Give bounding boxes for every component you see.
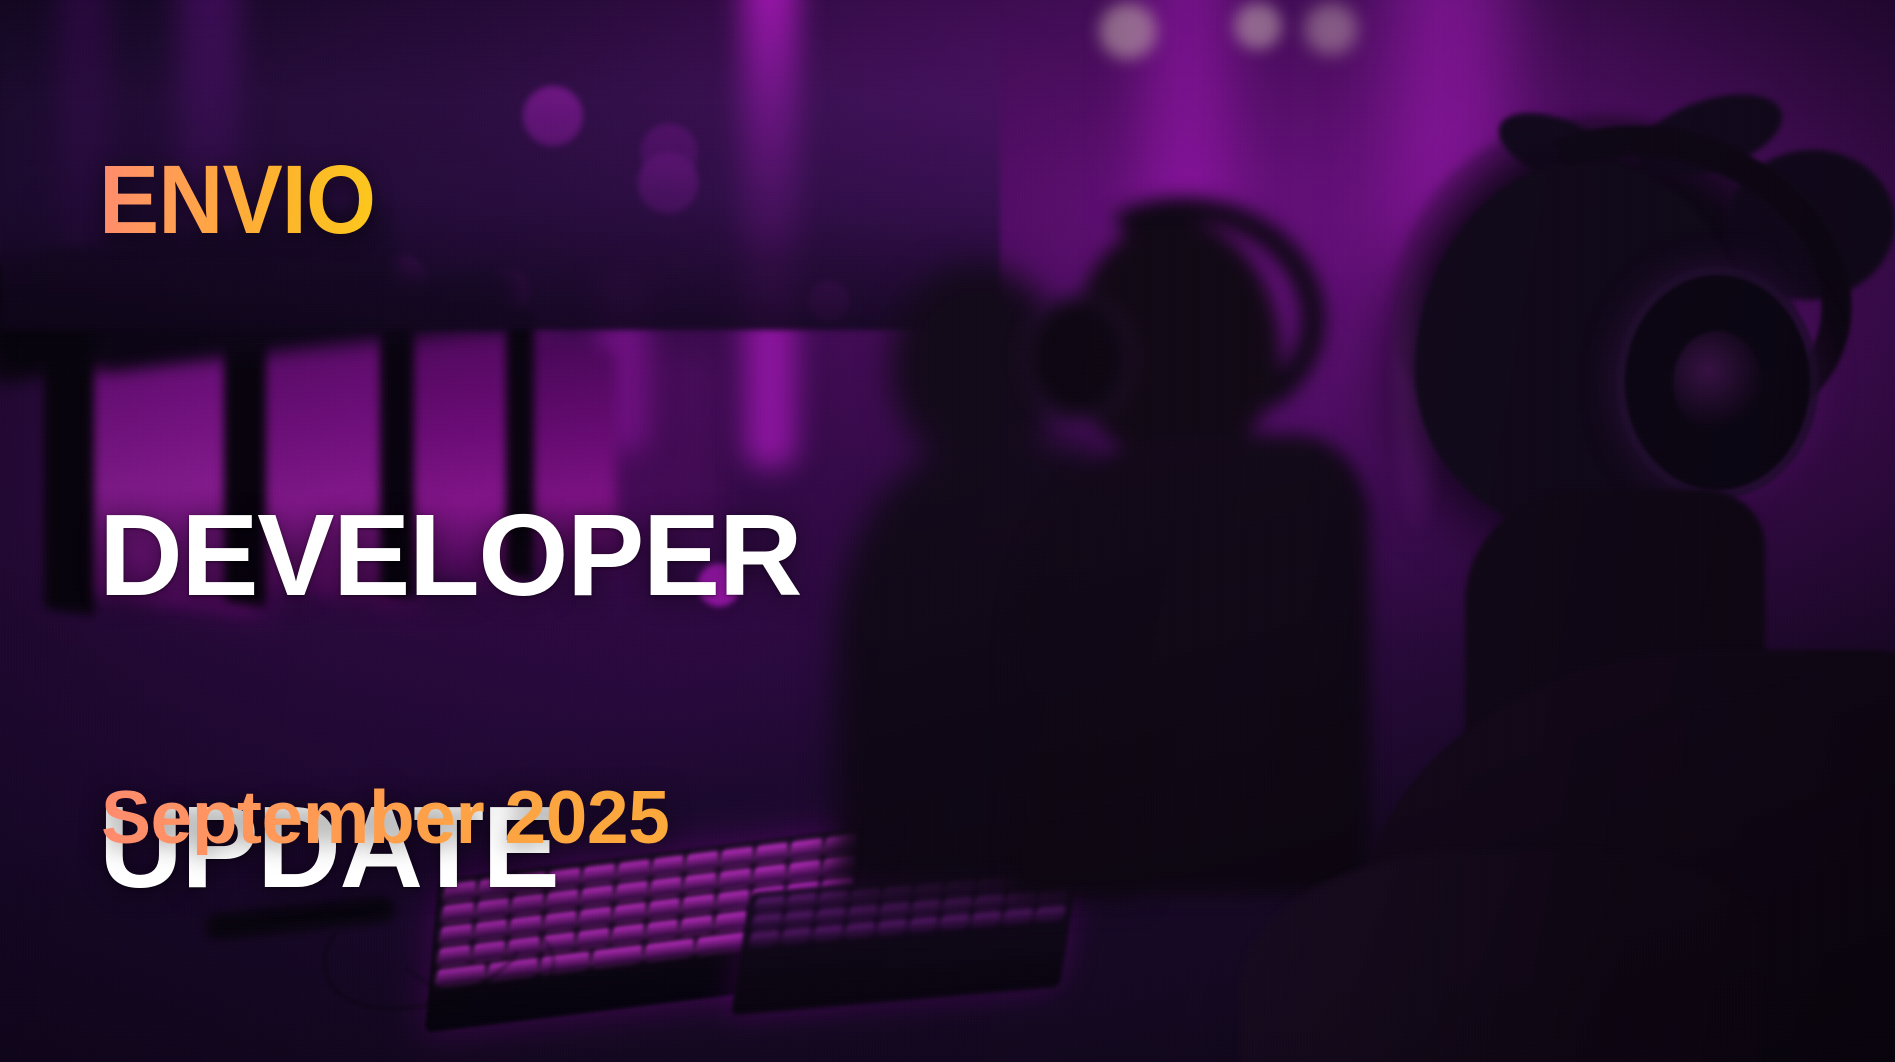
page-title: DEVELOPER UPDATE — [99, 336, 801, 1062]
bokeh-dot — [1230, 0, 1286, 52]
bokeh-dot — [1094, 0, 1162, 62]
envio-wordmark: ENVIO — [99, 151, 375, 248]
banner-content: ENVIO DEVELOPER UPDATE September 2025 — [99, 0, 1099, 1062]
developer-update-banner: ENVIO DEVELOPER UPDATE September 2025 — [0, 0, 1895, 1062]
edition-date: September 2025 — [101, 780, 669, 855]
foreground-gamer-silhouette — [1165, 90, 1895, 1062]
monitor-bezel — [44, 248, 94, 615]
person-arm — [1240, 850, 1760, 1062]
bokeh-dot — [1300, 0, 1362, 58]
page-title-line-1: DEVELOPER — [99, 482, 801, 628]
headphone-earcup — [1625, 275, 1810, 490]
